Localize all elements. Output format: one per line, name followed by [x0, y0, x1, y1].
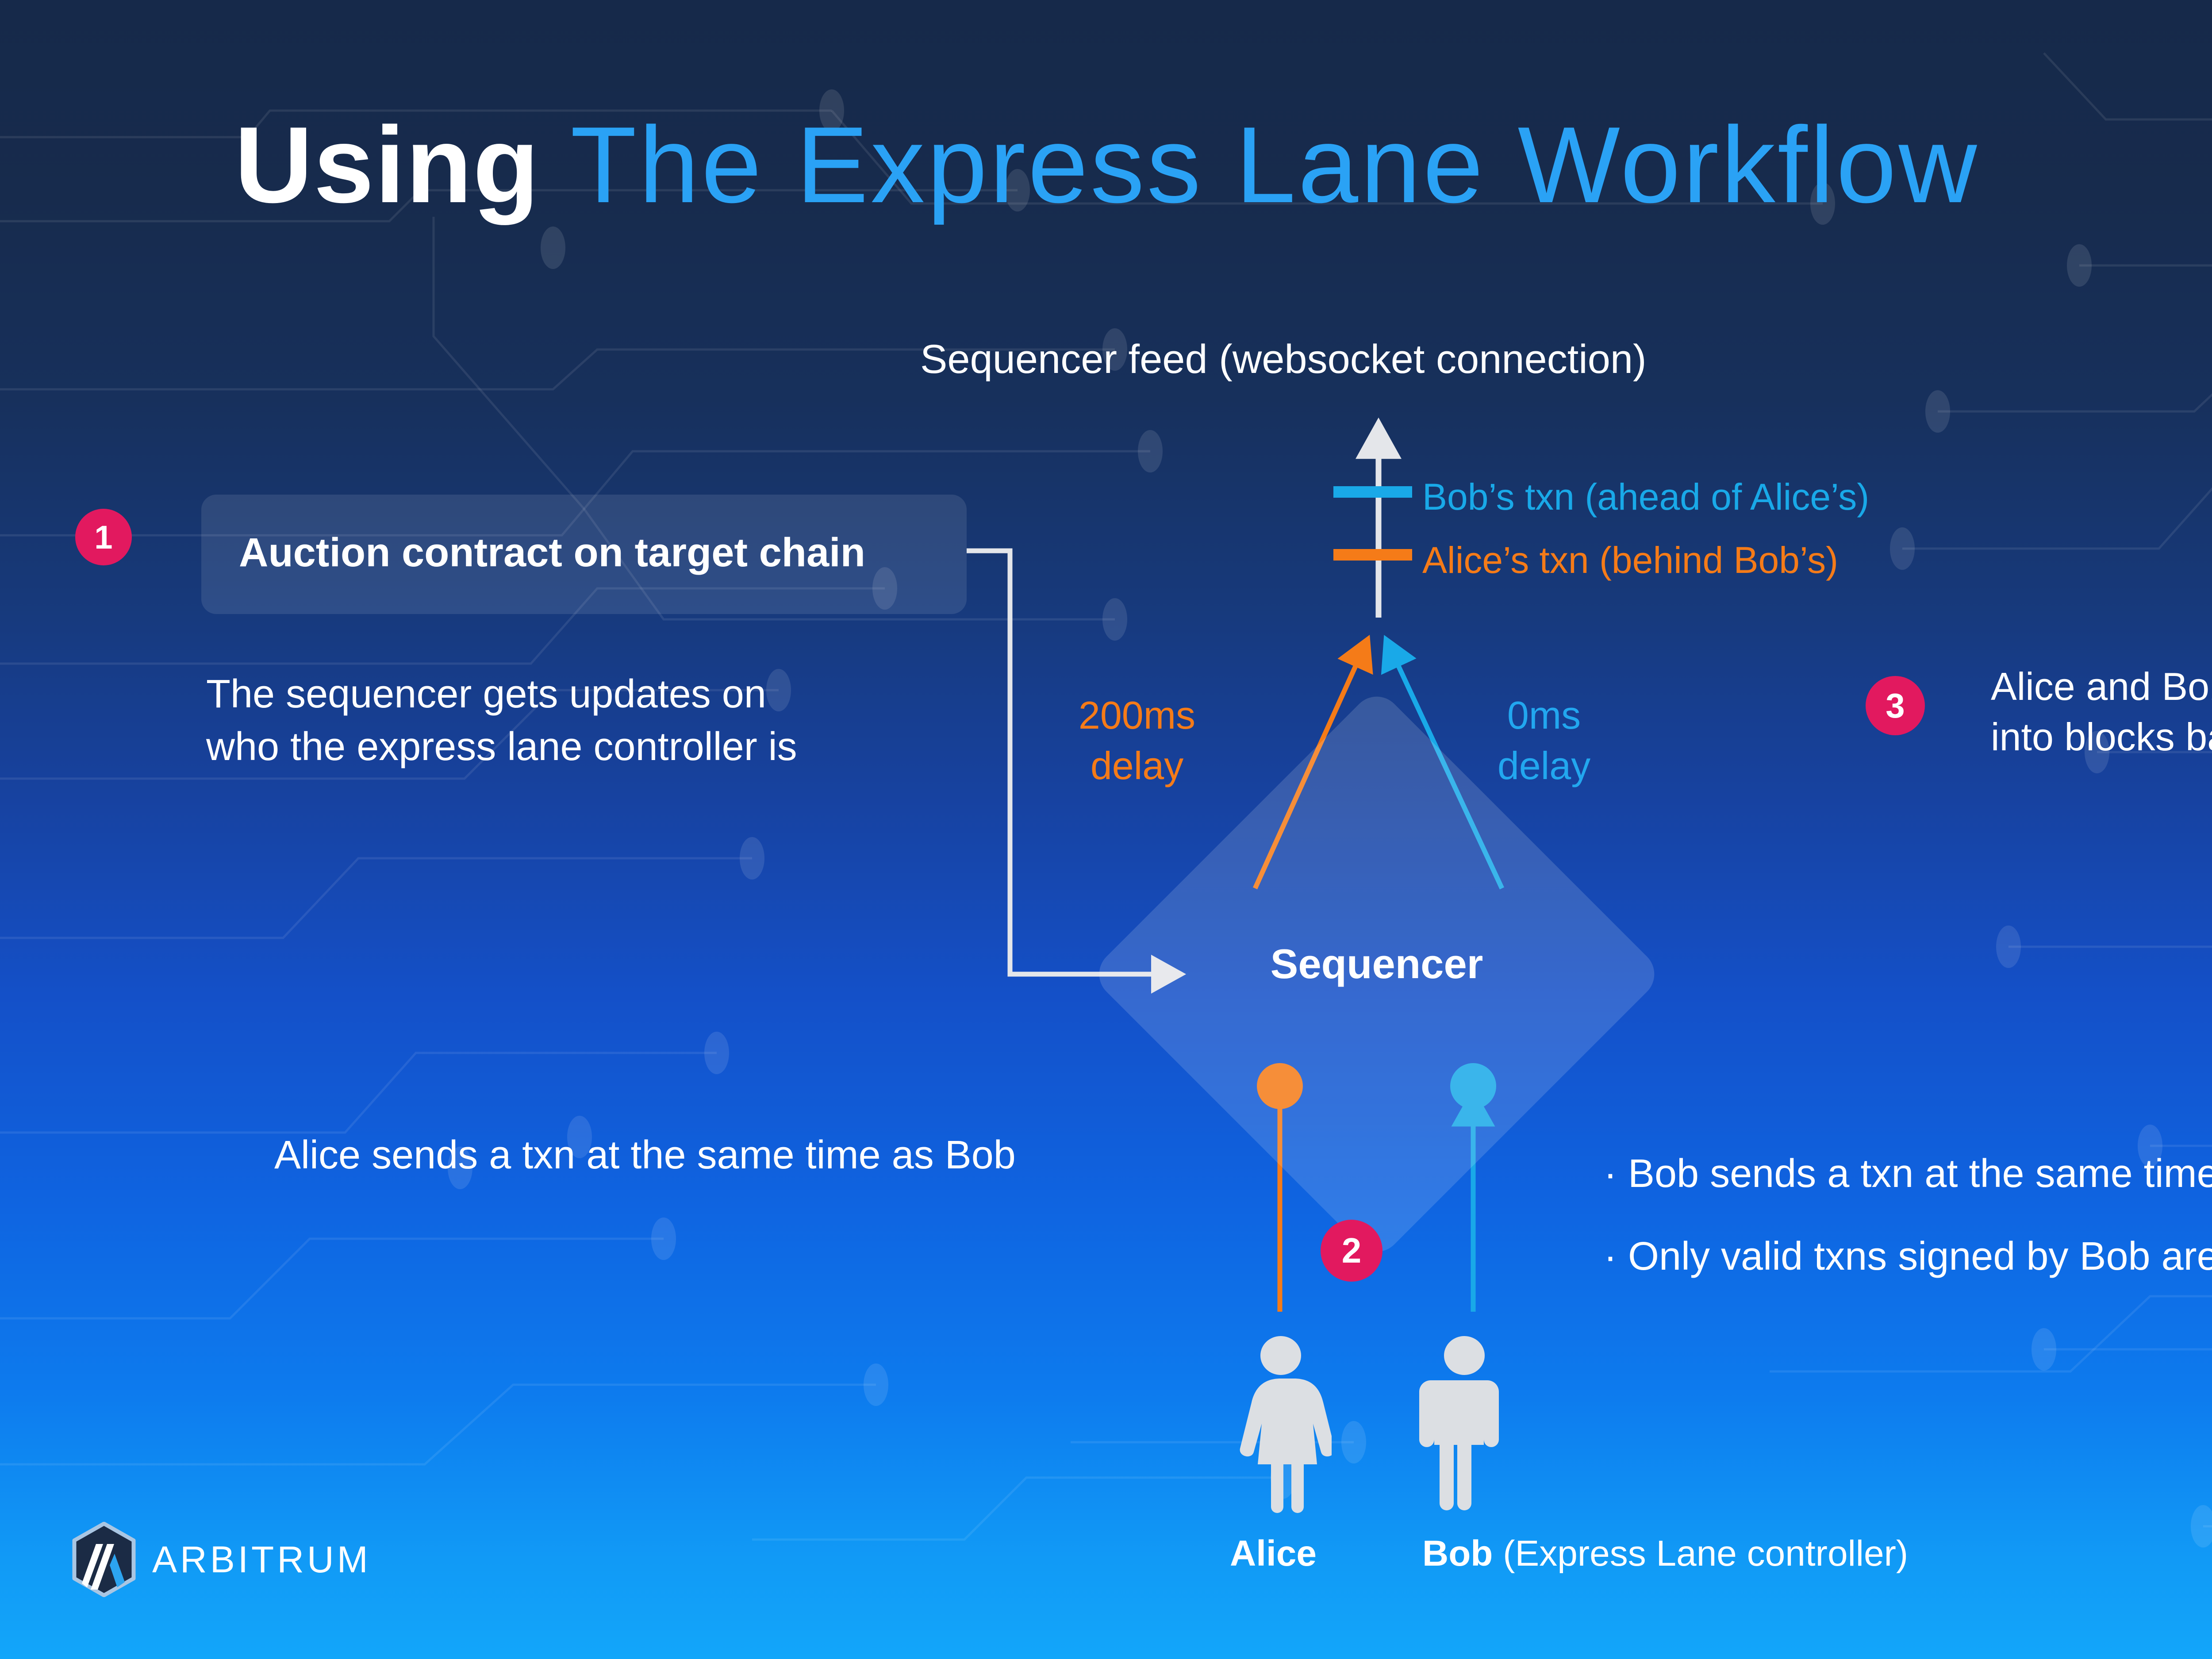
- bob-name-bold: Bob: [1422, 1533, 1493, 1574]
- sequencer-node-label: Sequencer: [1173, 940, 1580, 988]
- bob-name-label: Bob (Express Lane controller): [1422, 1533, 1908, 1575]
- sequencer-updates-paragraph: The sequencer gets updates on who the ex…: [206, 668, 797, 773]
- arbitrum-mark-icon: [71, 1522, 137, 1597]
- alice-delay-label: 200ms delay: [1057, 690, 1217, 791]
- legend-label-alice-txn: Alice’s txn (behind Bob’s): [1422, 539, 1838, 582]
- page-title: Using The Express Lane Workflow: [234, 111, 1979, 219]
- step-badge-1: 1: [75, 509, 132, 565]
- sequencer-feed-label: Sequencer feed (websocket connection): [920, 336, 1647, 383]
- auction-contract-label: Auction contract on target chain: [239, 530, 865, 576]
- title-lead: Using: [234, 104, 540, 225]
- alice-name-label: Alice: [1230, 1533, 1317, 1575]
- connector-arrows-layer: [0, 0, 2212, 1659]
- slide-canvas: Using The Express Lane Workflow Sequence…: [0, 0, 2212, 1659]
- arbitrum-logo: ARBITRUM: [71, 1522, 371, 1597]
- bob-delay-label: 0ms delay: [1469, 690, 1619, 791]
- bob-bullet-list: · Bob sends a txn at the same time as Al…: [1604, 1133, 2212, 1298]
- title-rest: The Express Lane Workflow: [540, 104, 1979, 225]
- bob-person-icon: [1413, 1336, 1515, 1513]
- step-badge-2: 2: [1321, 1220, 1382, 1282]
- alice-person-icon: [1230, 1336, 1332, 1513]
- bob-role-text: (Express Lane controller): [1493, 1533, 1908, 1574]
- step-3-description: Alice and Bob's txns get ordered into bl…: [1991, 661, 2212, 763]
- step-badge-3: 3: [1866, 676, 1925, 735]
- alice-caption: Alice sends a txn at the same time as Bo…: [274, 1133, 1016, 1178]
- circuit-background-pattern: [0, 0, 2212, 1659]
- arbitrum-wordmark: ARBITRUM: [152, 1538, 371, 1581]
- legend-label-bob-txn: Bob’s txn (ahead of Alice’s): [1422, 476, 1869, 518]
